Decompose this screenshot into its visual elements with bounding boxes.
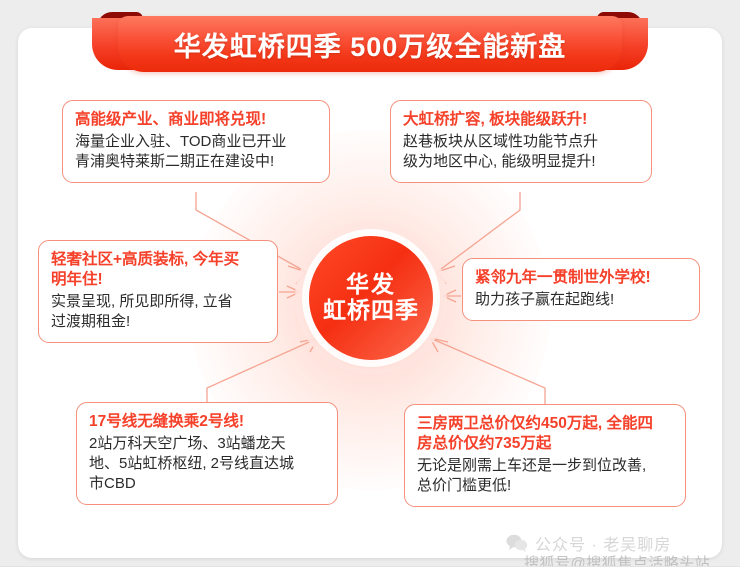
callout-hongqiao-body: 赵巷板块从区域性功能节点升 级为地区中心, 能级明显提升!	[403, 132, 639, 172]
callout-metro: 17号线无缝换乘2号线! 2站万科天空广场、3站蟠龙天 地、5站虹桥枢纽, 2号…	[76, 402, 338, 505]
ribbon-body: 华发虹桥四季 500万级全能新盘	[118, 16, 622, 72]
center-line-2: 虹桥四季	[323, 298, 419, 324]
callout-industry: 高能级产业、商业即将兑现! 海量企业入驻、TOD商业已开业 青浦奥特莱斯二期正在…	[62, 100, 330, 183]
callout-metro-body: 2站万科天空广场、3站蟠龙天 地、5站虹桥枢纽, 2号线直达城 市CBD	[89, 434, 325, 494]
callout-school: 紧邻九年一贯制世外学校! 助力孩子赢在起跑线!	[462, 258, 700, 321]
bottom-edge	[0, 566, 740, 580]
callout-community-title: 轻奢社区+高质装标, 今年买 明年住!	[51, 250, 265, 290]
center-line-1: 华发	[346, 272, 396, 298]
infographic-page: 华发虹桥四季 500万级全能新盘 华发 虹桥四季	[0, 0, 740, 580]
callout-price: 三房两卫总价仅约450万起, 全能四 房总价仅约735万起 无论是刚需上车还是一…	[404, 404, 686, 507]
callout-school-title: 紧邻九年一贯制世外学校!	[475, 268, 687, 288]
callout-industry-body: 海量企业入驻、TOD商业已开业 青浦奥特莱斯二期正在建设中!	[75, 132, 317, 172]
wechat-icon	[506, 534, 528, 552]
callout-community: 轻奢社区+高质装标, 今年买 明年住! 实景呈现, 所见即所得, 立省 过渡期租…	[38, 240, 278, 343]
banner-title: 华发虹桥四季 500万级全能新盘	[174, 25, 567, 64]
callout-price-body: 无论是刚需上车还是一步到位改善, 总价门槛更低!	[417, 456, 673, 496]
callout-hongqiao-title: 大虹桥扩容, 板块能级跃升!	[403, 110, 639, 130]
center-logo-circle: 华发 虹桥四季	[309, 236, 433, 360]
callout-community-body: 实景呈现, 所见即所得, 立省 过渡期租金!	[51, 292, 265, 332]
callout-hongqiao: 大虹桥扩容, 板块能级跃升! 赵巷板块从区域性功能节点升 级为地区中心, 能级明…	[390, 100, 652, 183]
banner-ribbon: 华发虹桥四季 500万级全能新盘	[0, 6, 740, 78]
callout-price-title: 三房两卫总价仅约450万起, 全能四 房总价仅约735万起	[417, 414, 673, 454]
callout-industry-title: 高能级产业、商业即将兑现!	[75, 110, 317, 130]
callout-metro-title: 17号线无缝换乘2号线!	[89, 412, 325, 432]
callout-school-body: 助力孩子赢在起跑线!	[475, 290, 687, 310]
